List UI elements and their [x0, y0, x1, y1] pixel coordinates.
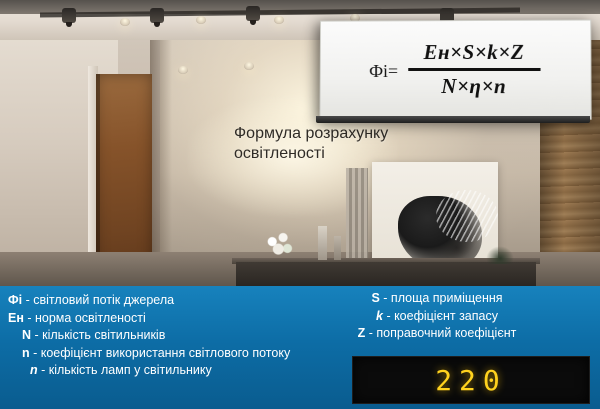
formula: Фі= Ен×S×k×Z N×η×n	[320, 21, 590, 119]
legend-text: - коефіцієнт запасу	[383, 309, 498, 323]
legend-text: - площа приміщення	[380, 291, 503, 305]
corner-shadow	[150, 40, 172, 286]
track-lamp	[246, 6, 260, 21]
legend-text: - норма освітленості	[24, 311, 146, 325]
legend-symbol: k	[376, 309, 383, 323]
legend-item: k - коефіцієнт запасу	[278, 308, 596, 326]
legend-right-column: S - площа приміщення k - коефіцієнт запа…	[278, 290, 596, 343]
legend-item: Z - поправочний коефіцієнт	[278, 325, 596, 343]
projector-screen: Фі= Ен×S×k×Z N×η×n	[319, 20, 591, 120]
ceiling-spotlight	[178, 66, 188, 74]
artwork-strokes	[436, 190, 498, 242]
track-lamp	[62, 8, 76, 23]
image-root: Формула розрахунку освітленості Фі= Ен×S…	[0, 0, 600, 409]
legend-text: - кількість світильників	[31, 328, 165, 342]
legend-symbol: S	[371, 291, 379, 305]
legend-symbol: N	[22, 328, 31, 342]
plant-decor	[486, 246, 514, 264]
flower-arrangement	[262, 228, 296, 262]
legend-item: N - кількість світильників	[8, 327, 276, 345]
legend-item: S - площа приміщення	[278, 290, 596, 308]
legend-item: Фі - світловий потік джерела	[8, 292, 276, 310]
ceiling-spotlight	[120, 18, 130, 26]
projector-screen-bottom-bar	[316, 116, 590, 123]
formula-left-side: Фі=	[369, 57, 398, 82]
scene-caption-line2: освітленості	[234, 144, 474, 164]
legend-item: n - коефіцієнт використання світлового п…	[8, 345, 276, 363]
legend-text: - коефіцієнт використання світлового пот…	[30, 346, 291, 360]
legend-item: Ен - норма освітленості	[8, 310, 276, 328]
ceiling-spotlight	[196, 16, 206, 24]
legend-text: - поправочний коефіцієнт	[365, 326, 516, 340]
legend-symbol: Ен	[8, 311, 24, 325]
ceiling-spotlight	[274, 16, 284, 24]
legend-text: - світловий потік джерела	[22, 293, 174, 307]
legend-item: n - кількість ламп у світильнику	[8, 362, 276, 380]
legend-symbol: n	[22, 346, 30, 360]
ceiling-spotlight	[244, 62, 254, 70]
formula-denominator: N×η×n	[435, 71, 512, 102]
track-lamp	[150, 8, 164, 23]
radiator	[346, 168, 368, 264]
sideboard	[236, 262, 536, 286]
scene-caption: Формула розрахунку освітленості	[234, 124, 474, 164]
vase-short	[334, 236, 341, 260]
scene-caption-line1: Формула розрахунку	[234, 124, 474, 144]
voltage-value: 220	[435, 364, 507, 397]
voltage-display: 220	[352, 356, 590, 404]
legend-text: - кількість ламп у світильнику	[38, 363, 212, 377]
legend-symbol: n	[30, 363, 38, 377]
vase-tall	[318, 226, 327, 260]
formula-numerator: Ен×S×k×Z	[418, 37, 531, 68]
legend-symbol: Фі	[8, 293, 22, 307]
legend-left-column: Фі - світловий потік джерела Ен - норма …	[8, 292, 276, 380]
formula-fraction: Ен×S×k×Z N×η×n	[408, 37, 540, 102]
